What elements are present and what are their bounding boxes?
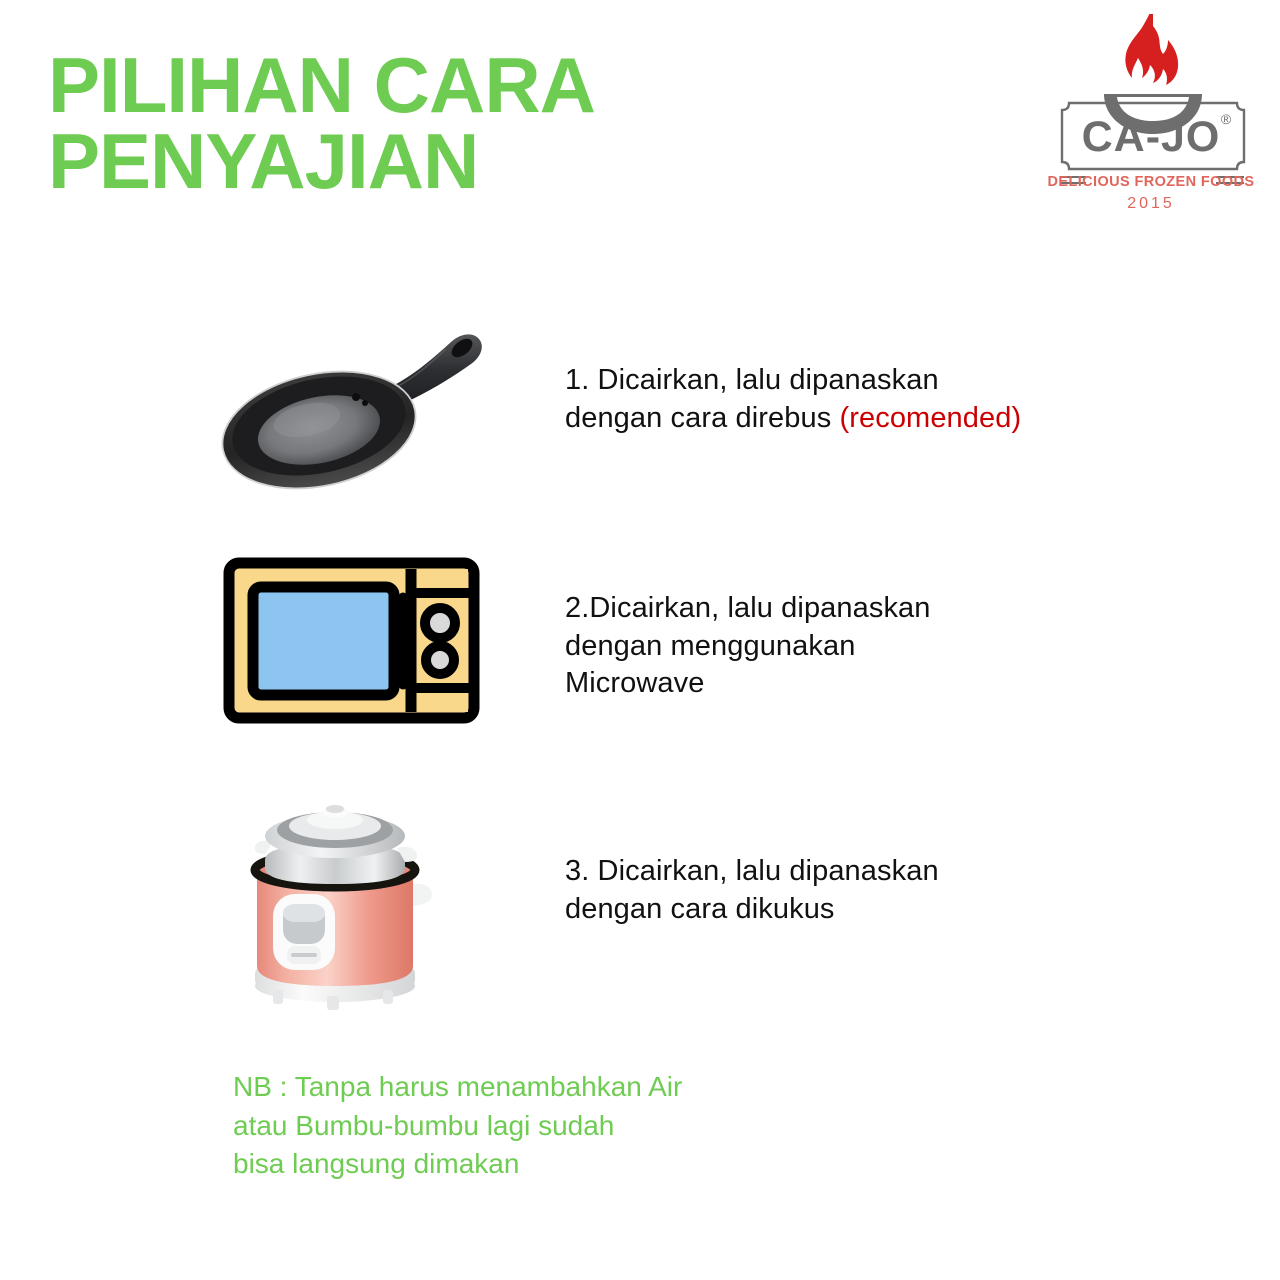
note-text: NB : Tanpa harus menambahkan Air atau Bu… xyxy=(233,1068,933,1184)
step-3-line1: Dicairkan, lalu dipanaskan xyxy=(598,855,939,887)
poster-canvas: PILIHAN CARA PENYAJIAN CA-JO ® xyxy=(0,0,1280,1280)
step-2-line2: dengan menggunakan xyxy=(565,630,855,662)
logo-brand-text: CA-JO xyxy=(1082,113,1221,161)
step-row-3: 3. Dicairkan, lalu dipanaskan dengan car… xyxy=(0,790,1280,1030)
step-3-text: 3. Dicairkan, lalu dipanaskan dengan car… xyxy=(565,853,1205,928)
frying-pan-illustration xyxy=(215,300,535,530)
step-2-number: 2. xyxy=(565,592,589,624)
cooker-lid xyxy=(265,805,405,858)
pan-body-icon xyxy=(215,355,427,505)
microwave-illustration xyxy=(215,545,535,745)
step-2-line3: Microwave xyxy=(565,667,705,699)
microwave-icon xyxy=(229,563,474,718)
step-1-text: 1. Dicairkan, lalu dipanaskan dengan car… xyxy=(565,362,1205,437)
step-1-number: 1. xyxy=(565,364,598,396)
cooker-control-panel xyxy=(273,894,335,970)
step-1-line2: dengan cara direbus xyxy=(565,402,839,434)
logo-year-text: 2015 xyxy=(1127,195,1175,212)
step-row-1: 1. Dicairkan, lalu dipanaskan dengan car… xyxy=(0,300,1280,530)
rice-cooker-illustration xyxy=(215,790,535,1030)
step-3-line2: dengan cara dikukus xyxy=(565,893,835,925)
brand-logo: CA-JO ® DELICIOUS FROZEN FOODS 2015 xyxy=(1048,14,1258,214)
step-1-line1: Dicairkan, lalu dipanaskan xyxy=(598,364,939,396)
logo-tagline-text: DELICIOUS FROZEN FOODS xyxy=(1048,174,1254,190)
step-3-number: 3. xyxy=(565,855,598,887)
logo-registered-mark: ® xyxy=(1221,111,1232,127)
page-title: PILIHAN CARA PENYAJIAN xyxy=(48,48,595,199)
step-2-line1: Dicairkan, lalu dipanaskan xyxy=(589,592,930,624)
step-1-recommended-badge: (recomended) xyxy=(839,402,1021,434)
flame-icon xyxy=(1125,14,1178,98)
step-2-text: 2.Dicairkan, lalu dipanaskan dengan meng… xyxy=(565,590,1205,703)
step-row-2: 2.Dicairkan, lalu dipanaskan dengan meng… xyxy=(0,545,1280,745)
